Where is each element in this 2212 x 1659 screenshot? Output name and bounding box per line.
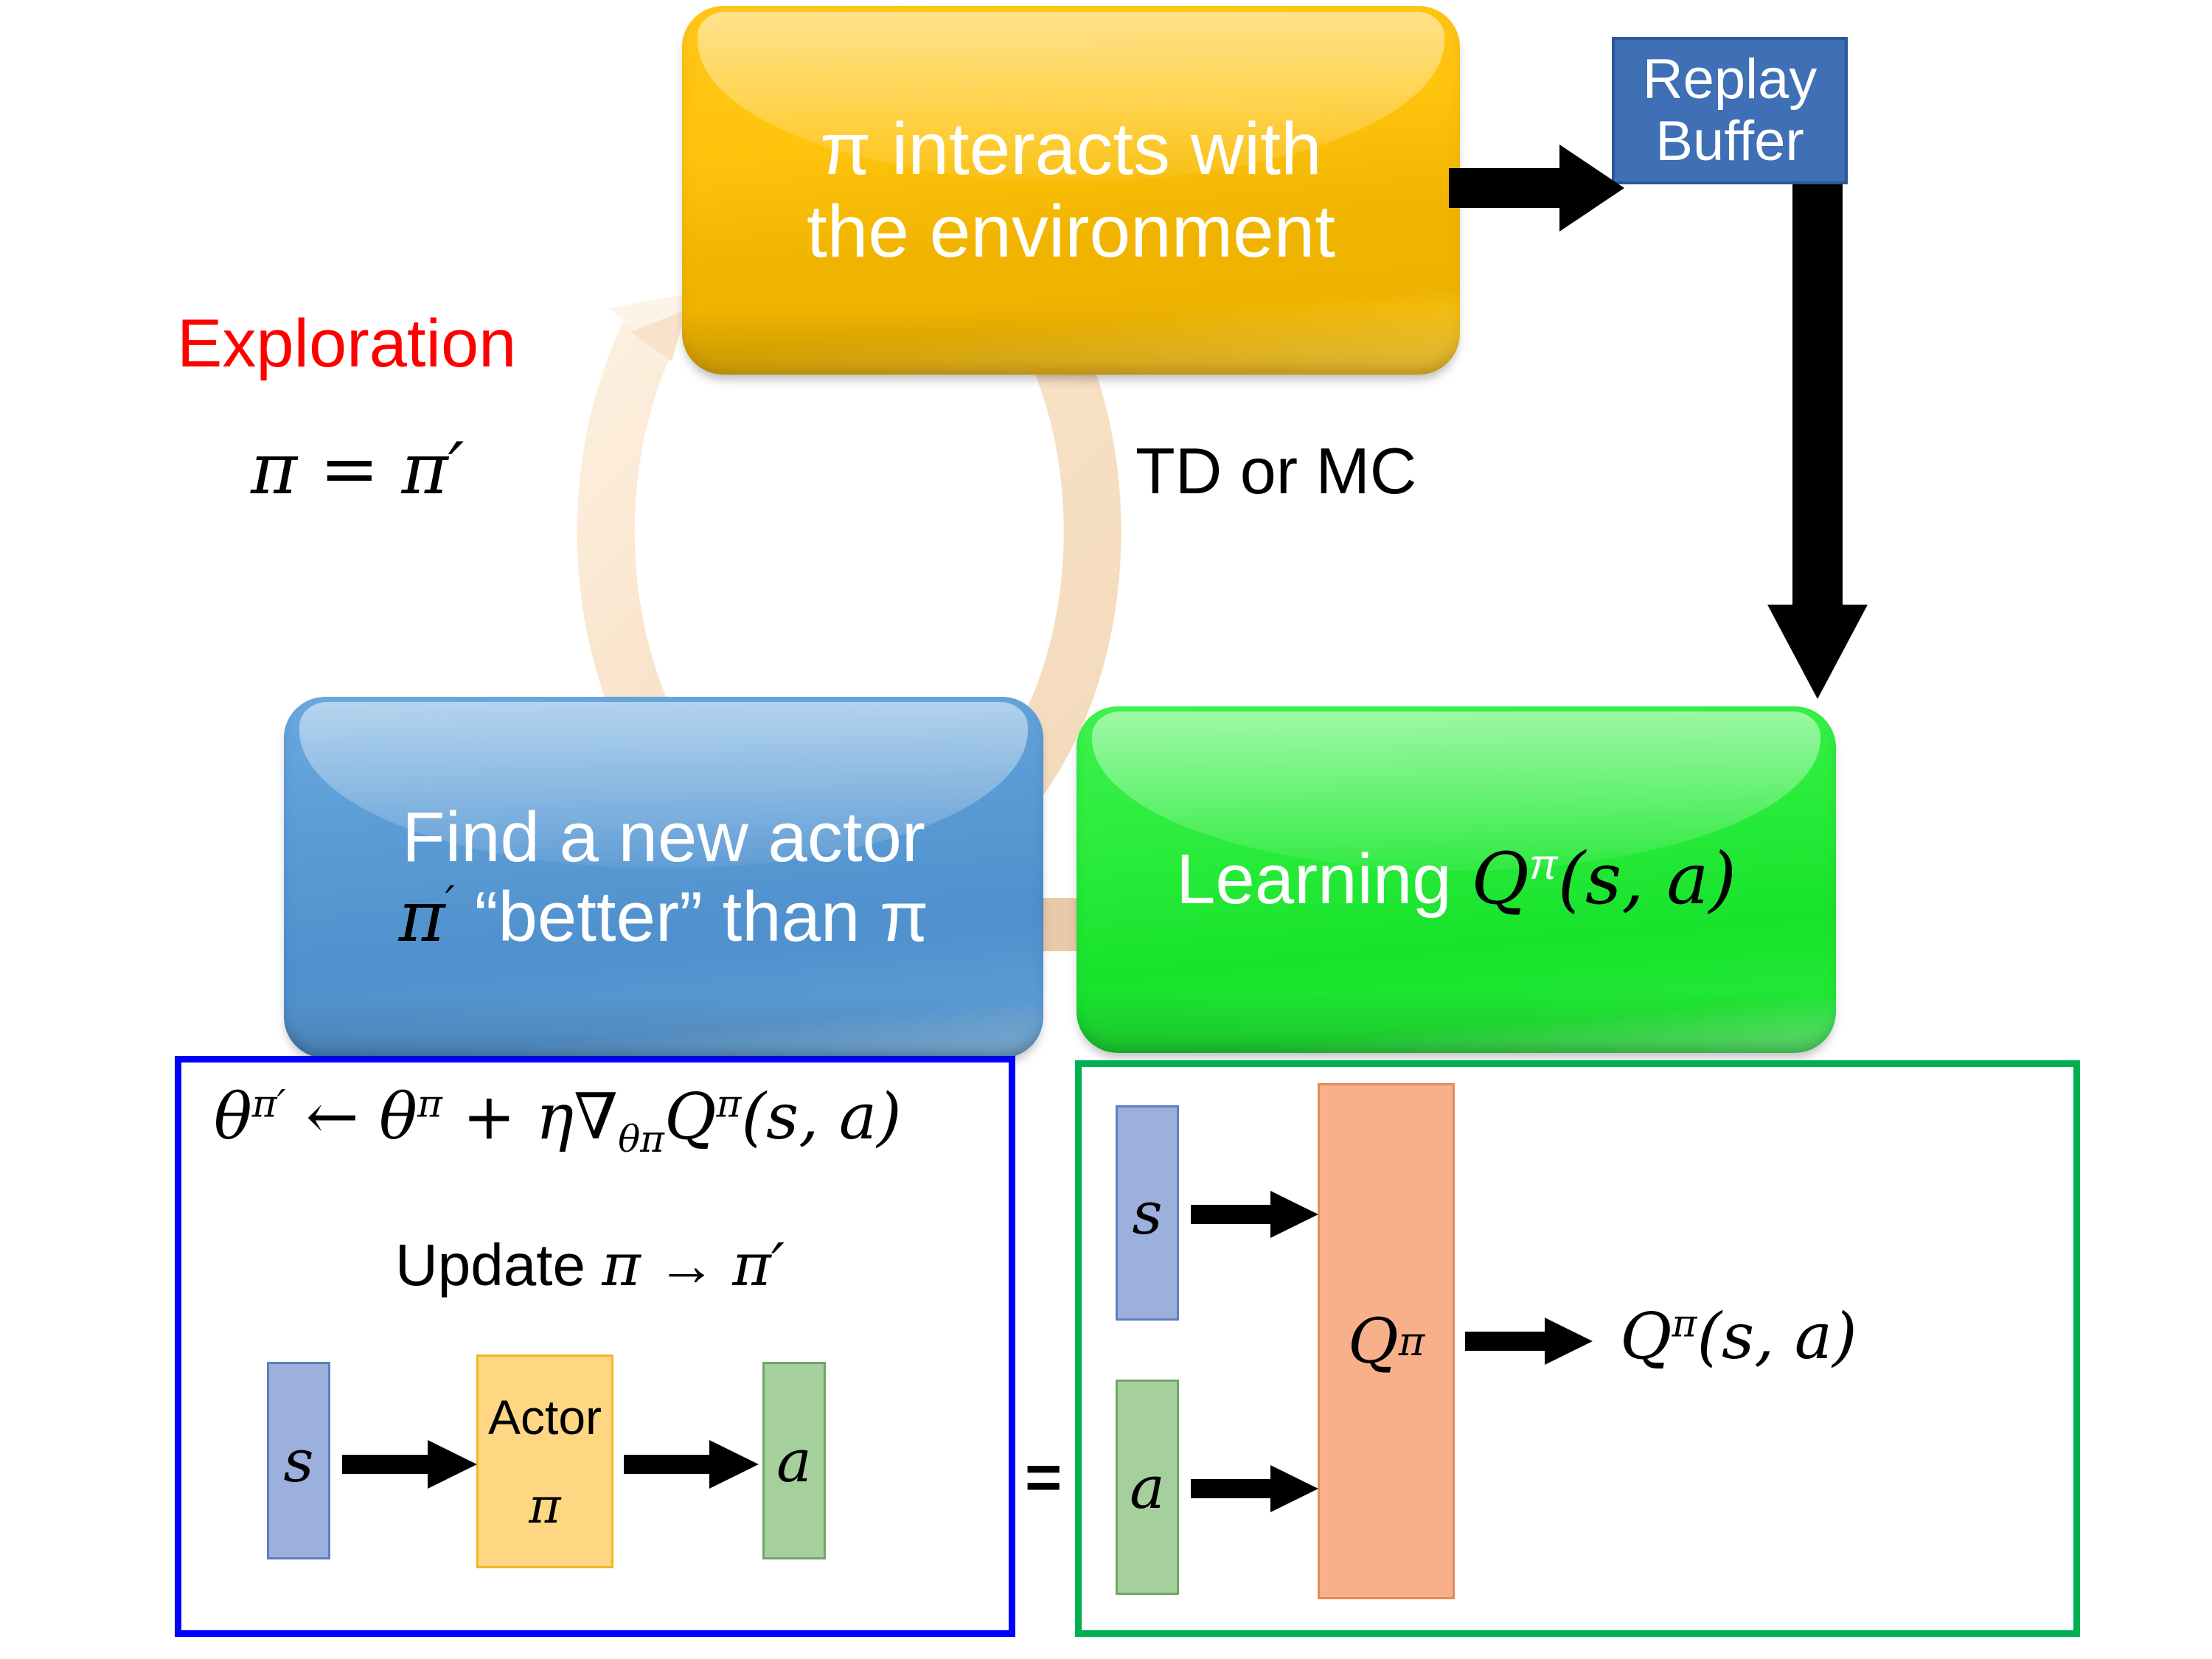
arrow-q-to-output-icon <box>1465 1316 1594 1366</box>
actor-input-s-vector: s <box>267 1362 330 1559</box>
pi-equals-text: π = π′ <box>251 428 464 510</box>
eq-theta1-sup: π′ <box>252 1082 286 1126</box>
actor-box-pi-prime: π <box>399 875 445 958</box>
actor-detail-panel: θπ′ ← θπ + η∇θπQπ(s, a) Update π → π′ s … <box>175 1056 1015 1637</box>
actor-box-label: Find a new actor π′ “better” than π <box>380 798 948 956</box>
exploration-text: Exploration <box>177 306 516 381</box>
replay-buffer-line1: Replay <box>1643 48 1818 111</box>
env-box-line2: the environment <box>807 190 1335 273</box>
env-interaction-box[interactable]: π interacts with the environment <box>682 6 1460 375</box>
actor-network-symbol: π <box>529 1478 560 1534</box>
env-box-line1: π interacts with <box>820 108 1321 190</box>
equals-sign-text: = <box>1025 1442 1062 1513</box>
q-network-sup: π <box>1399 1318 1425 1365</box>
actor-box-prime-mark: ′ <box>445 877 455 927</box>
td-or-mc-text: TD or MC <box>1135 434 1416 507</box>
actor-network-box: Actor π <box>476 1354 613 1568</box>
policy-gradient-equation: θπ′ ← θπ + η∇θπQπ(s, a) <box>214 1080 902 1161</box>
update-policy-label: Update π → π′ <box>395 1231 785 1299</box>
critic-box-sup: π <box>1529 841 1558 888</box>
eq-arrow: ← <box>306 1080 359 1154</box>
equals-sign-label: = <box>1025 1441 1062 1514</box>
critic-input-a-vector: a <box>1116 1380 1179 1595</box>
eq-plus: + <box>462 1080 515 1154</box>
arrow-env-to-replay-icon <box>1449 140 1626 236</box>
update-pi-prime: π′ <box>732 1231 785 1299</box>
arrow-s-to-q-icon <box>1191 1189 1320 1239</box>
eq-q-args: (s, a) <box>741 1080 901 1154</box>
actor-output-a-vector: a <box>762 1362 826 1559</box>
env-box-label: π interacts with the environment <box>787 108 1354 273</box>
replay-buffer-box[interactable]: Replay Buffer <box>1612 37 1848 184</box>
eq-nabla-sub: θπ <box>618 1118 664 1161</box>
critic-box-prefix: Learning <box>1176 840 1471 919</box>
critic-detail-panel: s a Qπ Qπ(s, a) <box>1075 1060 2080 1637</box>
update-pi: π <box>602 1231 641 1299</box>
critic-input-s-label: s <box>1132 1179 1162 1248</box>
update-arrow: → <box>641 1232 732 1298</box>
eq-theta1: θ <box>214 1080 252 1154</box>
eq-theta2: θ <box>379 1080 417 1154</box>
replay-buffer-line2: Buffer <box>1655 110 1804 173</box>
critic-box-q: Q <box>1471 838 1529 920</box>
arrow-s-to-actor-icon <box>342 1439 479 1490</box>
q-output-q: Q <box>1620 1300 1672 1374</box>
q-output-sup: π <box>1672 1301 1697 1346</box>
diagram-canvas: π interacts with the environment Replay … <box>0 0 2212 1659</box>
eq-q: Q <box>664 1080 717 1154</box>
eq-q-sup: π <box>717 1082 742 1126</box>
actor-box-line2-rest: “better” than π <box>455 877 929 956</box>
critic-box-label: Learning Qπ(s, a) <box>1157 840 1756 919</box>
q-network-box: Qπ <box>1318 1083 1455 1599</box>
critic-box-args: (s, a) <box>1558 838 1736 920</box>
critic-input-a-label: a <box>1130 1453 1165 1522</box>
actor-network-name: Actor <box>488 1389 602 1445</box>
eq-theta2-sup: π <box>417 1082 442 1126</box>
replay-buffer-label: Replay Buffer <box>1643 49 1818 172</box>
critic-input-s-vector: s <box>1116 1105 1179 1321</box>
arrow-a-to-q-icon <box>1191 1464 1320 1514</box>
update-word: Update <box>395 1232 602 1298</box>
actor-output-a-label: a <box>776 1427 812 1495</box>
actor-input-s-label: s <box>283 1427 313 1495</box>
pi-equals-pi-prime-label: π = π′ <box>251 428 464 510</box>
q-output-args: (s, a) <box>1697 1300 1857 1374</box>
exploration-label: Exploration <box>177 305 516 383</box>
eq-eta: η <box>536 1080 574 1154</box>
arrow-replay-to-critic-icon <box>1766 184 1869 700</box>
q-network-label: Q <box>1348 1305 1399 1377</box>
arrow-actor-to-a-icon <box>624 1439 760 1490</box>
actor-box-line1: Find a new actor <box>402 798 925 877</box>
find-new-actor-box[interactable]: Find a new actor π′ “better” than π <box>284 697 1043 1058</box>
td-or-mc-label: TD or MC <box>1135 434 1416 509</box>
eq-nabla: ∇ <box>574 1080 618 1154</box>
q-output-label: Qπ(s, a) <box>1620 1300 1857 1374</box>
learning-q-box[interactable]: Learning Qπ(s, a) <box>1077 706 1836 1053</box>
